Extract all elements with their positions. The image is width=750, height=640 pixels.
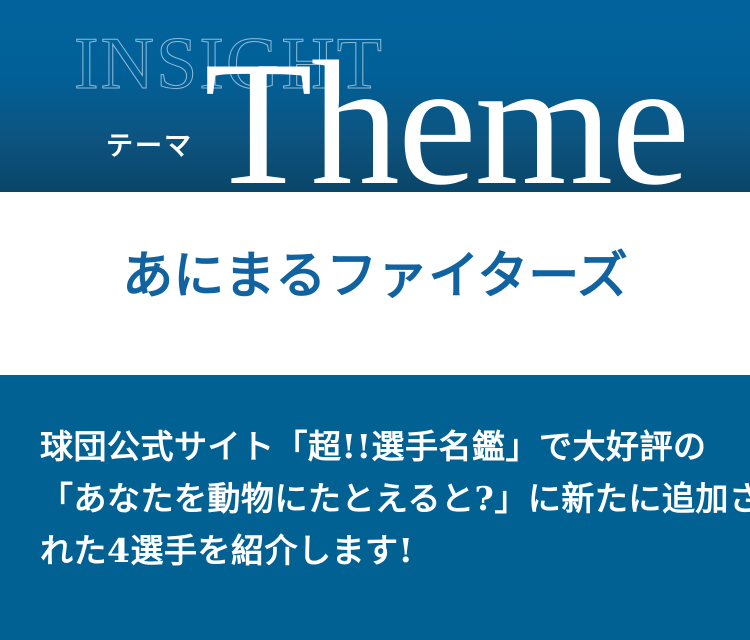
description-line-3: れた4選手を紹介します!	[40, 525, 710, 577]
description-band: 球団公式サイト「超!!選手名鑑」で大好評の 「あなたを動物にたとえると?」に新た…	[0, 375, 750, 640]
kana-reading-label: テーマ	[106, 133, 193, 160]
description-line-1: 球団公式サイト「超!!選手名鑑」で大好評の	[40, 421, 710, 473]
description-text: 球団公式サイト「超!!選手名鑑」で大好評の 「あなたを動物にたとえると?」に新た…	[40, 421, 710, 577]
page-title: あにまるファイターズ	[0, 248, 750, 306]
description-line-2: 「あなたを動物にたとえると?」に新たに追加さ	[40, 473, 710, 525]
hero-band: INSIGHT テーマ Theme	[0, 0, 750, 192]
hero-title: Theme	[204, 34, 688, 192]
theme-banner: INSIGHT テーマ Theme あにまるファイターズ 球団公式サイト「超!!…	[0, 0, 750, 640]
